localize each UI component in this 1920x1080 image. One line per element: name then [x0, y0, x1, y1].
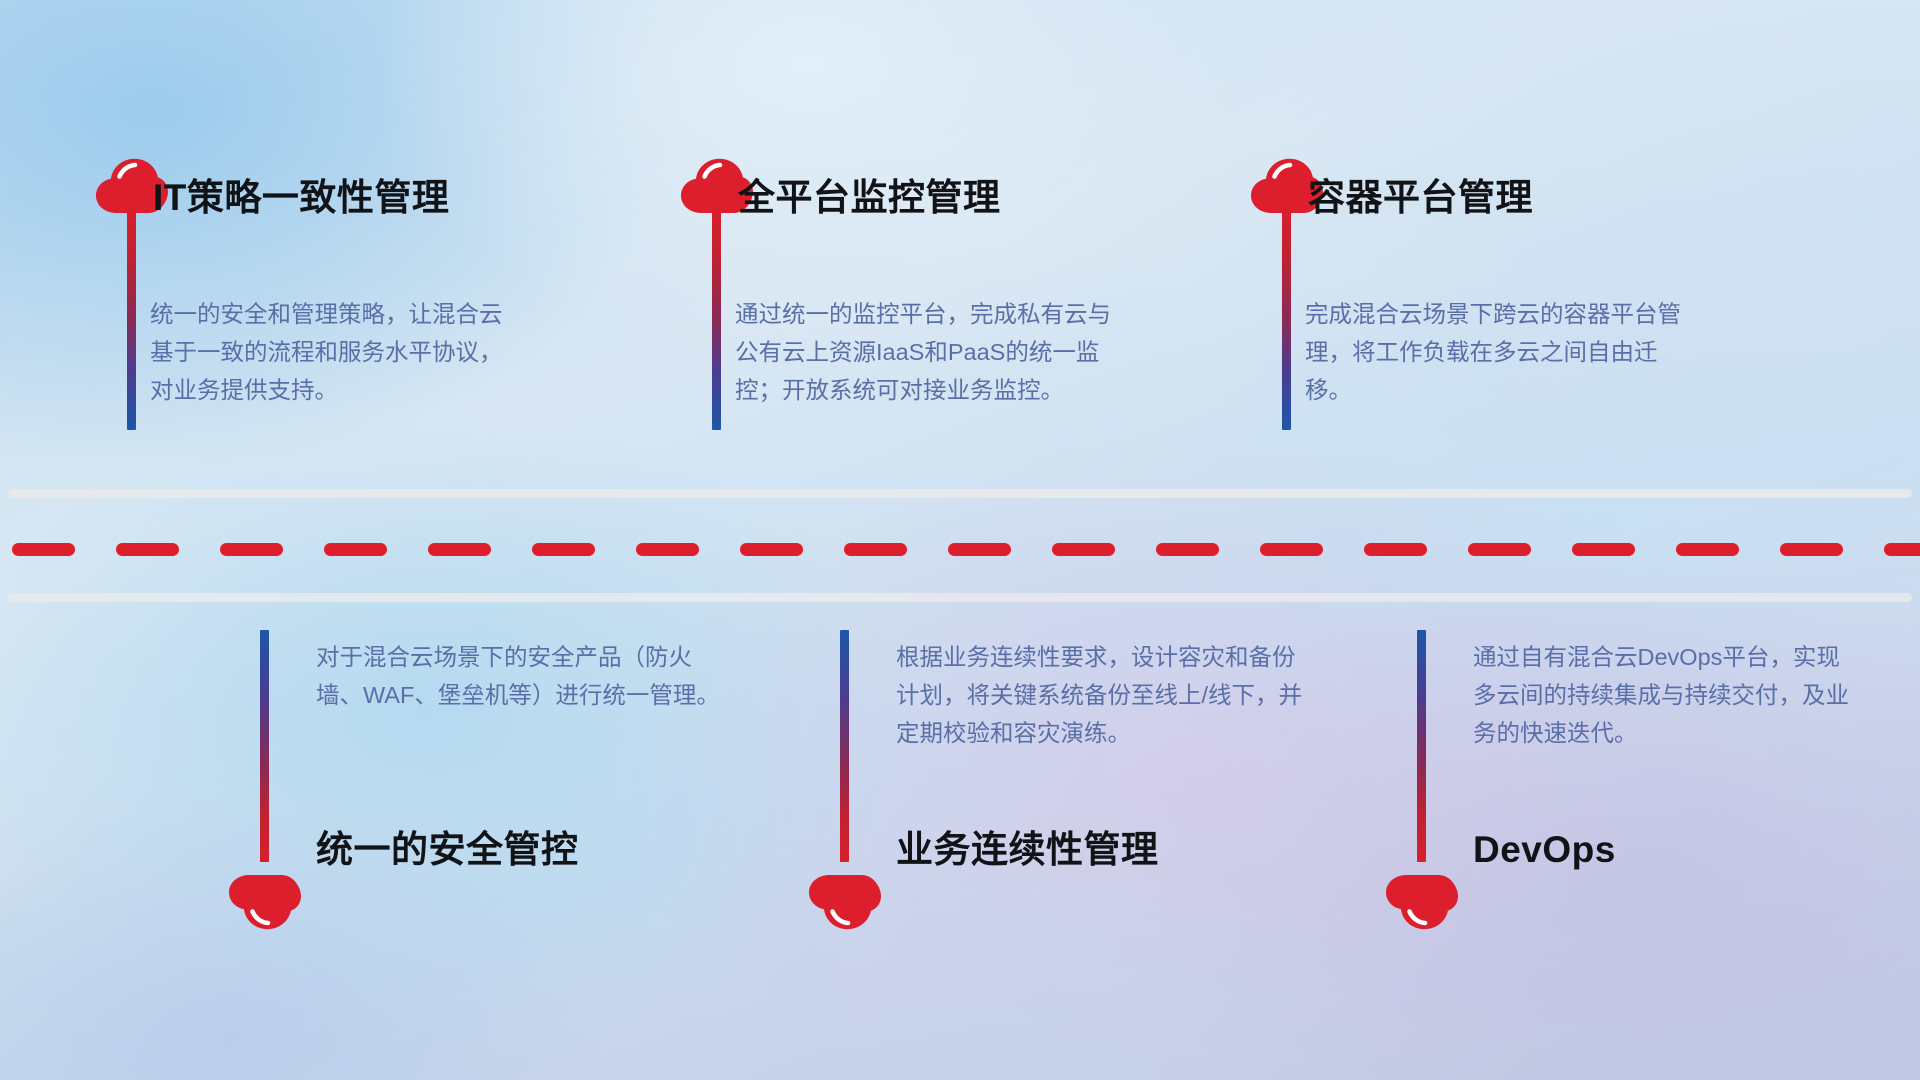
section-body: 根据业务连续性要求，设计容灾和备份计划，将关键系统备份至线上/线下，并定期校验和…: [896, 638, 1308, 752]
connector-stem: [840, 630, 849, 862]
divider-dash: [1572, 543, 1635, 556]
section-heading: DevOps: [1473, 830, 1616, 871]
section-body: 统一的安全和管理策略，让混合云基于一致的流程和服务水平协议，对业务提供支持。: [150, 295, 505, 409]
connector-stem: [127, 208, 136, 430]
section-heading: 容器平台管理: [1308, 178, 1533, 219]
connector-stem: [1282, 208, 1291, 430]
divider-dash: [1364, 543, 1427, 556]
divider-dash: [220, 543, 283, 556]
divider-dash: [1780, 543, 1843, 556]
divider-dash: [844, 543, 907, 556]
infographic-canvas: IT策略一致性管理 统一的安全和管理策略，让混合云基于一致的流程和服务水平协议，…: [0, 0, 1920, 1080]
connector-stem: [1417, 630, 1426, 862]
divider-dash: [428, 543, 491, 556]
divider-dash: [532, 543, 595, 556]
connector-stem: [260, 630, 269, 862]
divider-dash: [948, 543, 1011, 556]
divider-dash: [1468, 543, 1531, 556]
divider-dash: [1676, 543, 1739, 556]
divider-rail-top: [8, 489, 1912, 498]
section-heading: 统一的安全管控: [316, 830, 579, 871]
divider-dash: [116, 543, 179, 556]
cloud-icon: [228, 874, 302, 930]
divider-dash: [1156, 543, 1219, 556]
section-body: 完成混合云场景下跨云的容器平台管理，将工作负载在多云之间自由迁移。: [1305, 295, 1695, 409]
divider-dash: [636, 543, 699, 556]
divider-dash: [12, 543, 75, 556]
cloud-icon: [1385, 874, 1459, 930]
divider-dash: [740, 543, 803, 556]
divider-dash: [1052, 543, 1115, 556]
divider-dash: [1884, 543, 1920, 556]
divider-rail-bottom: [8, 593, 1912, 602]
section-body: 对于混合云场景下的安全产品（防火墙、WAF、堡垒机等）进行统一管理。: [316, 638, 731, 714]
divider-dashed-line: [0, 542, 1920, 556]
section-body: 通过统一的监控平台，完成私有云与公有云上资源IaaS和PaaS的统一监控；开放系…: [735, 295, 1130, 409]
cloud-icon: [808, 874, 882, 930]
section-heading: 业务连续性管理: [896, 830, 1159, 871]
section-body: 通过自有混合云DevOps平台，实现多云间的持续集成与持续交付，及业务的快速迭代…: [1473, 638, 1863, 752]
divider-dash: [1260, 543, 1323, 556]
section-heading: 全平台监控管理: [738, 178, 1001, 219]
divider-dash: [324, 543, 387, 556]
connector-stem: [712, 208, 721, 430]
section-heading: IT策略一致性管理: [153, 178, 449, 219]
